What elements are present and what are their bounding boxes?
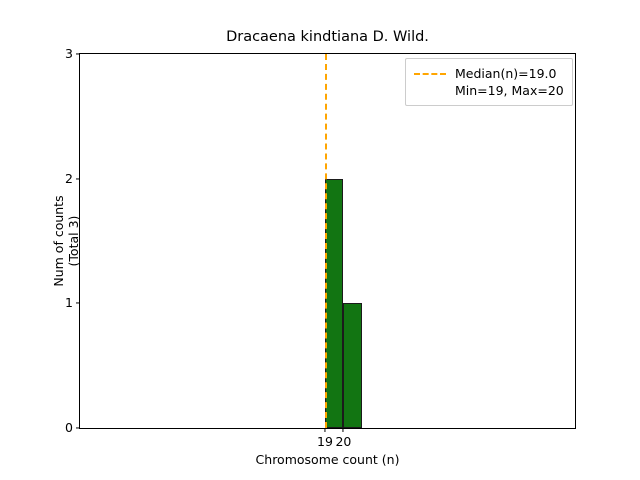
- bar-20: [343, 303, 361, 428]
- legend-minmax-text: Min=19, Max=20: [455, 82, 564, 99]
- chart-title: Dracaena kindtiana D. Wild.: [79, 28, 576, 46]
- chart-figure: Dracaena kindtiana D. Wild. 0 1 2 3 19 2…: [0, 0, 640, 480]
- legend-entry-median: Median(n)=19.0 Min=19, Max=20: [413, 65, 564, 99]
- legend-entry-label: Median(n)=19.0 Min=19, Max=20: [455, 65, 564, 99]
- y-axis-label-line1: Num of counts: [51, 195, 66, 286]
- y-axis-label-line2: (Total 3): [66, 195, 81, 286]
- bar-19: [325, 179, 343, 428]
- y-axis-label: Num of counts (Total 3): [46, 53, 86, 429]
- xtick-label-19: 19: [317, 428, 333, 448]
- plot-inner: 0 1 2 3 19 20: [80, 54, 575, 428]
- median-line: [325, 54, 327, 428]
- plot-area: 0 1 2 3 19 20: [79, 53, 576, 429]
- xtick-label-20: 20: [335, 428, 351, 448]
- legend-median-text: Median(n)=19.0: [455, 66, 556, 81]
- x-axis-label: Chromosome count (n): [79, 452, 576, 467]
- chart-legend: Median(n)=19.0 Min=19, Max=20: [405, 58, 573, 106]
- dashed-line-icon: [413, 65, 447, 82]
